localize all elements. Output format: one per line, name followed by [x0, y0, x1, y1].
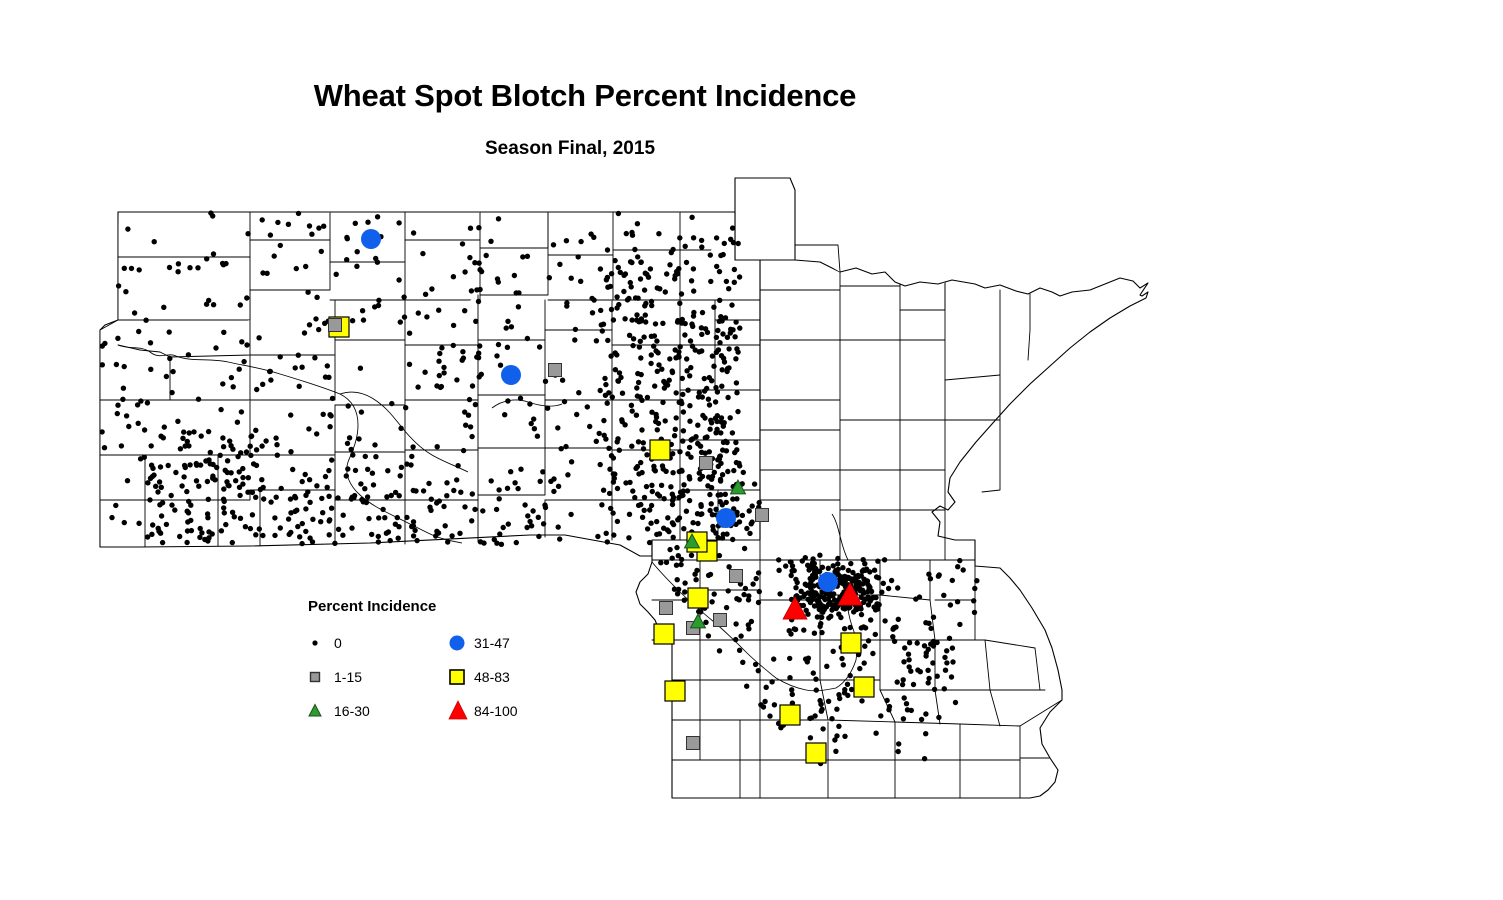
map-point-zero — [363, 454, 368, 459]
legend-label-84-100: 84-100 — [474, 703, 518, 719]
map-point-zero — [273, 435, 278, 440]
map-point-zero — [820, 603, 825, 608]
map-point-zero — [445, 539, 450, 544]
map-point-zero — [164, 374, 169, 379]
map-point-zero — [512, 480, 517, 485]
map-point-zero — [634, 385, 639, 390]
map-point-zero — [674, 390, 679, 395]
map-point-zero — [915, 640, 920, 645]
map-point-zero — [244, 449, 249, 454]
map-point-zero — [723, 492, 728, 497]
map-point-zero — [467, 255, 472, 260]
map-point-zero — [792, 626, 797, 631]
map-point-zero — [677, 235, 682, 240]
map-point-zero — [836, 611, 841, 616]
map-point-zero — [734, 390, 739, 395]
map-point-zero — [303, 264, 308, 269]
map-point-zero — [738, 633, 743, 638]
map-point-zero — [214, 465, 219, 470]
map-point-zero — [253, 495, 258, 500]
map-point-zero — [435, 444, 440, 449]
map-point-zero — [639, 318, 644, 323]
map-point-zero — [678, 344, 683, 349]
map-point-zero — [147, 497, 152, 502]
map-point-zero — [164, 522, 169, 527]
map-point-zero — [449, 533, 454, 538]
map-point-zero — [833, 749, 838, 754]
map-point-zero — [704, 434, 709, 439]
map-point-zero — [158, 464, 163, 469]
map-point-zero — [807, 716, 812, 721]
map-point-zero — [638, 394, 643, 399]
map-point-zero — [749, 519, 754, 524]
map-point-zero — [937, 572, 942, 577]
map-point-zero — [380, 507, 385, 512]
map-point-zero — [598, 266, 603, 271]
map-point-zero — [629, 230, 634, 235]
map-point-zero — [757, 589, 762, 594]
map-point-zero — [360, 308, 365, 313]
map-point-zero — [167, 356, 172, 361]
map-point-zero — [716, 347, 721, 352]
map-point-zero — [172, 507, 177, 512]
map-point-zero — [469, 434, 474, 439]
map-point-zero — [922, 643, 927, 648]
map-point-zero — [904, 701, 909, 706]
map-point-zero — [699, 332, 704, 337]
map-point-zero — [444, 493, 449, 498]
map-point-zero — [723, 439, 728, 444]
map-point-zero — [562, 399, 567, 404]
map-point-zero — [627, 333, 632, 338]
map-point-zero — [627, 480, 632, 485]
map-point-zero — [185, 528, 190, 533]
map-point-zero — [674, 563, 679, 568]
map-point-zero — [259, 443, 264, 448]
map-point-zero — [574, 412, 579, 417]
map-point-zero — [868, 617, 873, 622]
map-point-zero — [441, 504, 446, 509]
map-point-zero — [696, 394, 701, 399]
map-point-zero — [670, 556, 675, 561]
map-point-zero — [690, 520, 695, 525]
map-point-zero — [826, 615, 831, 620]
map-point-zero — [169, 493, 174, 498]
map-point-zero — [173, 470, 178, 475]
map-point-zero — [385, 468, 390, 473]
map-point-zero — [398, 319, 403, 324]
map-point-zero — [158, 531, 163, 536]
map-point-zero — [926, 680, 931, 685]
map-point-zero — [300, 479, 305, 484]
map-point-zero — [711, 305, 716, 310]
map-point-zero — [267, 369, 272, 374]
map-point-zero — [681, 409, 686, 414]
map-point-zero — [219, 528, 224, 533]
map-point-zero — [208, 450, 213, 455]
map-point-zero — [470, 491, 475, 496]
map-point-zero — [718, 477, 723, 482]
map-point-zero — [947, 636, 952, 641]
map-point-zero — [145, 480, 150, 485]
map-point-zero — [472, 507, 477, 512]
map-point-zero — [896, 617, 901, 622]
map-point-zero — [153, 484, 158, 489]
map-point-zero — [268, 232, 273, 237]
map-point-zero — [477, 343, 482, 348]
map-point-zero — [505, 345, 510, 350]
legend-item-84-100[interactable]: 84-100 — [448, 701, 518, 721]
map-point-zero — [496, 279, 501, 284]
map-point-zero — [758, 702, 763, 707]
map-point-gray-square — [549, 364, 562, 377]
map-point-zero — [229, 375, 234, 380]
map-point-zero — [624, 231, 629, 236]
map-point-zero — [537, 344, 542, 349]
map-point-zero — [376, 298, 381, 303]
map-point-zero — [769, 679, 774, 684]
map-point-zero — [789, 573, 794, 578]
map-point-zero — [260, 382, 265, 387]
map-point-zero — [660, 321, 665, 326]
map-point-zero — [136, 521, 141, 526]
map-point-zero — [653, 321, 658, 326]
map-point-zero — [100, 362, 105, 367]
map-point-zero — [152, 239, 157, 244]
map-point-gray-square — [714, 614, 727, 627]
map-point-zero — [677, 515, 682, 520]
map-point-gray-square — [756, 509, 769, 522]
map-point-zero — [473, 402, 478, 407]
map-point-zero — [319, 249, 324, 254]
legend-item-48-83[interactable]: 48-83 — [448, 667, 510, 687]
map-point-zero — [257, 526, 262, 531]
map-point-zero — [817, 624, 822, 629]
map-point-zero — [737, 274, 742, 279]
map-point-zero — [732, 267, 737, 272]
map-point-zero — [752, 481, 757, 486]
map-point-zero — [806, 567, 811, 572]
map-point-zero — [100, 343, 105, 348]
map-point-zero — [842, 687, 847, 692]
map-point-zero — [518, 396, 523, 401]
map-point-zero — [789, 687, 794, 692]
map-point-zero — [853, 582, 858, 587]
map-point-zero — [718, 430, 723, 435]
map-point-zero — [950, 659, 955, 664]
map-point-zero — [936, 715, 941, 720]
map-point-zero — [454, 377, 459, 382]
map-point-zero — [682, 598, 687, 603]
map-point-zero — [747, 531, 752, 536]
map-point-zero — [834, 707, 839, 712]
map-point-zero — [684, 356, 689, 361]
map-point-zero — [950, 578, 955, 583]
map-point-zero — [335, 495, 340, 500]
map-point-zero — [275, 453, 280, 458]
map-point-zero — [184, 489, 189, 494]
map-point-zero — [336, 527, 341, 532]
map-point-zero — [879, 590, 884, 595]
map-point-zero — [505, 486, 510, 491]
map-point-zero — [874, 574, 879, 579]
map-point-zero — [648, 521, 653, 526]
map-point-zero — [787, 675, 792, 680]
map-point-zero — [736, 461, 741, 466]
map-point-zero — [576, 254, 581, 259]
map-point-zero — [437, 373, 442, 378]
map-point-zero — [221, 486, 226, 491]
map-point-zero — [677, 301, 682, 306]
map-point-blue-circle — [501, 365, 521, 385]
map-point-zero — [669, 250, 674, 255]
map-point-zero — [811, 670, 816, 675]
map-point-zero — [848, 625, 853, 630]
map-point-zero — [730, 537, 735, 542]
map-point-zero — [733, 440, 738, 445]
map-point-zero — [303, 529, 308, 534]
map-point-zero — [162, 424, 167, 429]
map-point-zero — [867, 585, 872, 590]
map-point-zero — [359, 409, 364, 414]
map-point-zero — [169, 390, 174, 395]
map-point-zero — [919, 717, 924, 722]
legend-label-31-47: 31-47 — [474, 635, 510, 651]
map-point-zero — [501, 525, 506, 530]
map-point-zero — [157, 479, 162, 484]
map-point-zero — [649, 503, 654, 508]
map-point-zero — [974, 578, 979, 583]
map-point-zero — [187, 265, 192, 270]
map-svg — [0, 0, 1503, 900]
map-point-zero — [142, 455, 147, 460]
map-point-zero — [717, 269, 722, 274]
map-point-zero — [741, 592, 746, 597]
map-point-zero — [366, 516, 371, 521]
map-point-zero — [878, 713, 883, 718]
map-point-zero — [230, 447, 235, 452]
map-point-zero — [540, 469, 545, 474]
map-point-zero — [726, 365, 731, 370]
map-point-zero — [776, 568, 781, 573]
map-point-zero — [253, 532, 258, 537]
map-point-zero — [925, 668, 930, 673]
map-point-zero — [296, 211, 301, 216]
map-point-yellow-square — [688, 588, 708, 608]
map-point-zero — [149, 443, 154, 448]
map-point-zero — [680, 493, 685, 498]
map-point-zero — [707, 508, 712, 513]
map-point-zero — [670, 470, 675, 475]
map-point-zero — [564, 238, 569, 243]
map-point-zero — [396, 277, 401, 282]
map-legend: Percent Incidence 0 1-15 16-30 — [308, 598, 538, 725]
map-point-zero — [695, 521, 700, 526]
map-point-zero — [971, 598, 976, 603]
map-point-zero — [756, 668, 761, 673]
north-dakota-counties — [100, 212, 760, 556]
map-point-zero — [687, 445, 692, 450]
map-point-zero — [923, 711, 928, 716]
map-point-zero — [356, 436, 361, 441]
map-point-zero — [859, 698, 864, 703]
map-point-zero — [848, 561, 853, 566]
map-point-zero — [346, 403, 351, 408]
map-point-zero — [767, 713, 772, 718]
map-point-zero — [664, 271, 669, 276]
map-point-zero — [372, 304, 377, 309]
map-point-zero — [772, 702, 777, 707]
map-point-zero — [663, 418, 668, 423]
map-point-zero — [906, 657, 911, 662]
map-point-zero — [699, 504, 704, 509]
map-point-zero — [576, 390, 581, 395]
map-point-zero — [616, 265, 621, 270]
map-point-zero — [704, 386, 709, 391]
map-point-zero — [278, 525, 283, 530]
map-point-zero — [972, 586, 977, 591]
map-point-zero — [629, 403, 634, 408]
map-point-zero — [862, 660, 867, 665]
map-point-zero — [599, 322, 604, 327]
map-point-zero — [638, 276, 643, 281]
map-point-zero — [890, 634, 895, 639]
map-point-zero — [682, 589, 687, 594]
map-point-zero — [469, 518, 474, 523]
map-point-zero — [709, 485, 714, 490]
map-point-zero — [645, 395, 650, 400]
map-point-zero — [334, 272, 339, 277]
map-point-zero — [396, 220, 401, 225]
map-point-zero — [516, 290, 521, 295]
map-point-zero — [136, 329, 141, 334]
map-point-zero — [658, 560, 663, 565]
map-point-zero — [684, 260, 689, 265]
map-point-zero — [832, 737, 837, 742]
map-point-zero — [819, 707, 824, 712]
map-point-zero — [297, 534, 302, 539]
map-point-zero — [713, 399, 718, 404]
map-point-zero — [286, 516, 291, 521]
map-point-zero — [607, 467, 612, 472]
map-point-zero — [297, 384, 302, 389]
map-point-zero — [715, 328, 720, 333]
map-point-zero — [634, 413, 639, 418]
map-point-zero — [812, 561, 817, 566]
map-point-zero — [478, 539, 483, 544]
map-point-zero — [639, 427, 644, 432]
map-point-zero — [724, 531, 729, 536]
map-point-zero — [820, 726, 825, 731]
map-point-zero — [175, 269, 180, 274]
map-point-zero — [707, 427, 712, 432]
map-point-zero — [239, 409, 244, 414]
map-point-zero — [296, 353, 301, 358]
map-point-zero — [181, 429, 186, 434]
map-point-zero — [675, 591, 680, 596]
map-point-zero — [159, 513, 164, 518]
map-point-zero — [353, 468, 358, 473]
map-point-zero — [926, 676, 931, 681]
map-point-zero — [536, 515, 541, 520]
map-point-zero — [827, 599, 832, 604]
map-point-zero — [632, 495, 637, 500]
map-point-zero — [551, 489, 556, 494]
map-point-zero — [278, 354, 283, 359]
map-point-zero — [307, 500, 312, 505]
map-point-zero — [238, 516, 243, 521]
map-point-zero — [722, 241, 727, 246]
map-point-zero — [663, 289, 668, 294]
map-point-zero — [525, 336, 530, 341]
map-point-zero — [260, 533, 265, 538]
map-point-zero — [211, 251, 216, 256]
map-point-zero — [126, 424, 131, 429]
map-point-zero — [699, 244, 704, 249]
map-point-zero — [557, 262, 562, 267]
map-point-zero — [675, 577, 680, 582]
legend-item-1-15[interactable]: 1-15 — [308, 667, 362, 687]
map-point-zero — [529, 523, 534, 528]
map-point-zero — [647, 540, 652, 545]
map-point-zero — [185, 509, 190, 514]
map-point-zero — [753, 662, 758, 667]
map-point-zero — [206, 497, 211, 502]
map-point-zero — [498, 363, 503, 368]
map-point-zero — [384, 531, 389, 536]
map-point-zero — [674, 415, 679, 420]
map-point-zero — [370, 471, 375, 476]
map-point-zero — [605, 338, 610, 343]
map-point-zero — [740, 660, 745, 665]
map-point-zero — [179, 483, 184, 488]
red-triangle-icon — [448, 698, 474, 724]
map-point-zero — [518, 467, 523, 472]
map-point-zero — [470, 383, 475, 388]
map-point-zero — [651, 464, 656, 469]
map-point-zero — [461, 355, 466, 360]
map-point-zero — [747, 508, 752, 513]
map-point-yellow-square — [654, 624, 674, 644]
map-point-zero — [359, 497, 364, 502]
map-point-zero — [307, 322, 312, 327]
map-point-zero — [610, 510, 615, 515]
map-point-zero — [532, 426, 537, 431]
map-point-zero — [186, 352, 191, 357]
map-point-zero — [585, 404, 590, 409]
map-point-zero — [463, 423, 468, 428]
map-point-zero — [733, 637, 738, 642]
map-point-zero — [303, 493, 308, 498]
map-point-zero — [332, 541, 337, 546]
map-point-zero — [710, 524, 715, 529]
legend-item-0[interactable]: 0 — [308, 633, 342, 653]
map-point-zero — [612, 476, 617, 481]
map-point-zero — [410, 444, 415, 449]
legend-item-16-30[interactable]: 16-30 — [308, 701, 370, 721]
map-point-zero — [720, 535, 725, 540]
map-point-zero — [700, 474, 705, 479]
map-point-zero — [801, 627, 806, 632]
map-point-yellow-square — [854, 677, 874, 697]
map-point-zero — [812, 603, 817, 608]
legend-item-31-47[interactable]: 31-47 — [448, 633, 510, 653]
map-point-zero — [508, 469, 513, 474]
map-point-zero — [237, 493, 242, 498]
map-point-zero — [415, 384, 420, 389]
map-point-zero — [687, 373, 692, 378]
map-point-zero — [601, 418, 606, 423]
